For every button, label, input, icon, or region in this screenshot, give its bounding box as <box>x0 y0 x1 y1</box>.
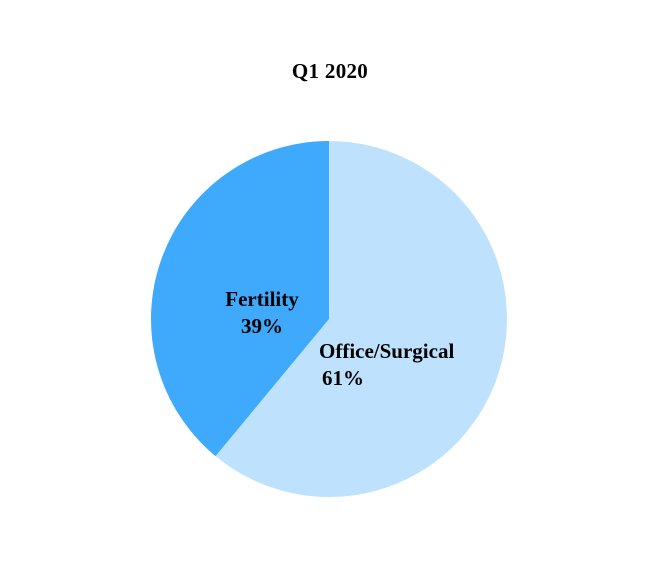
pie-label-office-surgical-name: Office/Surgical <box>319 338 454 365</box>
pie-label-fertility-percent: 39% <box>176 313 348 340</box>
pie-label-office-surgical: Office/Surgical 61% <box>319 338 454 392</box>
pie-label-fertility: Fertility 39% <box>176 286 348 340</box>
chart-title: Q1 2020 <box>0 58 660 84</box>
pie-label-fertility-name: Fertility <box>176 286 348 313</box>
pie-chart-figure: Q1 2020 Fertility 39% Office/Surgical 61… <box>0 0 660 580</box>
pie-label-office-surgical-percent: 61% <box>319 365 454 392</box>
